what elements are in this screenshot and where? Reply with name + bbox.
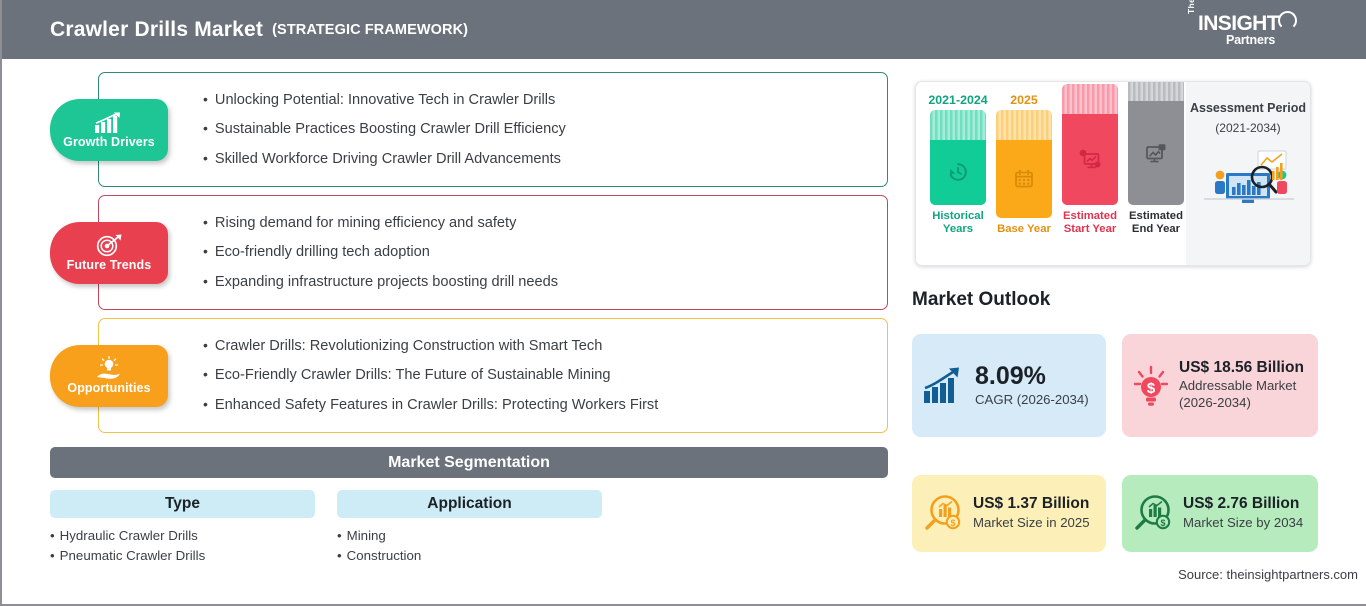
- bar-caption: Estimated Start Year: [1062, 210, 1118, 237]
- logo-arc-icon: [1278, 11, 1297, 30]
- outlook-card-value: US$ 1.37 Billion: [973, 495, 1090, 513]
- list-item: •Eco-friendly drilling tech adoption: [203, 244, 558, 260]
- list-item: •Skilled Workforce Driving Crawler Drill…: [203, 151, 566, 167]
- bullet-dot-icon: •: [203, 273, 208, 289]
- hand-lightbulb-icon: [94, 357, 124, 380]
- outlook-card-addressable-market: $ US$ 18.56 Billion Addressable Market (…: [1122, 334, 1318, 437]
- pillar-future-trends: •Rising demand for mining efficiency and…: [98, 195, 888, 310]
- badge-growth-drivers[interactable]: Growth Drivers: [50, 99, 168, 161]
- outlook-card-label: Addressable Market (2026-2034): [1179, 378, 1308, 412]
- assessment-bars-area: 2021-2024: [916, 82, 1188, 265]
- source-attribution: Source: theinsightpartners.com: [1178, 567, 1358, 582]
- svg-text:$: $: [1147, 380, 1156, 397]
- outlook-card-market-size-2034: $ US$ 2.76 Billion Market Size by 2034: [1122, 475, 1318, 552]
- logo-the-text: The: [1186, 0, 1196, 14]
- svg-text:$: $: [950, 518, 955, 528]
- segmentation-column-type: Type •Hydraulic Crawler Drills •Pneumati…: [50, 490, 315, 566]
- segmentation-column-application: Application •Mining •Construction: [337, 490, 602, 566]
- assessment-bar-group: 2021-2024: [930, 81, 1184, 237]
- outlook-card-value: US$ 2.76 Billion: [1183, 495, 1303, 513]
- left-column: •Unlocking Potential: Innovative Tech in…: [2, 59, 902, 606]
- badge-label: Opportunities: [67, 381, 150, 395]
- bar-caption: Estimated End Year: [1128, 210, 1184, 237]
- bullet-dot-icon: •: [337, 528, 342, 543]
- magnifier-chart-icon: $: [922, 493, 964, 535]
- bullet-dot-icon: •: [203, 214, 208, 230]
- list-item: •Eco-Friendly Crawler Drills: The Future…: [203, 367, 658, 383]
- bullet-dot-icon: •: [203, 243, 208, 259]
- bullet-text: Expanding infrastructure projects boosti…: [215, 274, 558, 290]
- page-title: Crawler Drills Market: [50, 18, 263, 42]
- pillar-growth-drivers: •Unlocking Potential: Innovative Tech in…: [98, 72, 888, 187]
- list-item: •Mining: [337, 526, 602, 546]
- bullet-dot-icon: •: [50, 548, 55, 563]
- assessment-bar-base: 2025: [996, 93, 1052, 237]
- page-subtitle: (STRATEGIC FRAMEWORK): [272, 22, 468, 38]
- bar-chart-arrow-icon: [94, 111, 124, 134]
- bar-year-label: 2025: [1010, 93, 1038, 107]
- segmentation-item-text: Construction: [347, 548, 422, 563]
- pillar-bullet-list: •Rising demand for mining efficiency and…: [203, 195, 558, 310]
- insight-partners-logo: The INSIGHT Partners: [1186, 12, 1306, 50]
- svg-text:$: $: [1160, 518, 1165, 528]
- bullet-text: Eco-Friendly Crawler Drills: The Future …: [215, 367, 611, 383]
- assessment-period-card: 2021-2024: [915, 81, 1311, 266]
- bullet-dot-icon: •: [203, 396, 208, 412]
- bullet-text: Enhanced Safety Features in Crawler Dril…: [215, 397, 658, 413]
- badge-future-trends[interactable]: Future Trends: [50, 222, 168, 284]
- list-item: •Sustainable Practices Boosting Crawler …: [203, 121, 566, 137]
- bar-stripe: [930, 110, 986, 140]
- outlook-card-label: Market Size in 2025: [973, 515, 1090, 532]
- bar-caption: Base Year: [997, 223, 1051, 237]
- list-item: •Expanding infrastructure projects boost…: [203, 274, 558, 290]
- outlook-card-text: US$ 18.56 Billion Addressable Market (20…: [1179, 359, 1308, 412]
- outlook-card-market-size-2025: $ US$ 1.37 Billion Market Size in 2025: [912, 475, 1106, 552]
- bar-year-label: 2021-2024: [928, 93, 987, 107]
- assessment-bar-historical: 2021-2024: [930, 93, 986, 237]
- outlook-card-label: Market Size by 2034: [1183, 515, 1303, 532]
- badge-label: Future Trends: [67, 258, 152, 272]
- list-item: •Enhanced Safety Features in Crawler Dri…: [203, 397, 658, 413]
- outlook-card-value: US$ 18.56 Billion: [1179, 359, 1308, 377]
- market-segmentation-header: Market Segmentation: [50, 447, 888, 478]
- bullet-dot-icon: •: [203, 337, 208, 353]
- list-item: •Rising demand for mining efficiency and…: [203, 215, 558, 231]
- bullet-text: Eco-friendly drilling tech adoption: [215, 244, 430, 260]
- bar-solid: [1128, 101, 1184, 205]
- badge-label: Growth Drivers: [63, 135, 155, 149]
- target-arrow-icon: [96, 234, 123, 257]
- pillar-bullet-list: •Unlocking Potential: Innovative Tech in…: [203, 72, 566, 187]
- bullet-dot-icon: •: [203, 366, 208, 382]
- bar-solid: [996, 140, 1052, 218]
- bar-shape: [996, 110, 1052, 218]
- list-item: •Crawler Drills: Revolutionizing Constru…: [203, 338, 658, 354]
- segmentation-item-list: •Hydraulic Crawler Drills •Pneumatic Cra…: [50, 526, 315, 566]
- bullet-dot-icon: •: [50, 528, 55, 543]
- bar-stripe: [1062, 84, 1118, 114]
- segmentation-column-title: Application: [337, 490, 602, 518]
- outlook-card-value: 8.09%: [975, 362, 1089, 392]
- bar-stripe: [996, 110, 1052, 140]
- page-header: Crawler Drills Market (STRATEGIC FRAMEWO…: [2, 0, 1366, 59]
- magnifier-chart-icon: $: [1132, 493, 1174, 535]
- bar-shape: [930, 110, 986, 205]
- outlook-card-cagr: 8.09% CAGR (2026-2034): [912, 334, 1106, 437]
- list-item: •Hydraulic Crawler Drills: [50, 526, 315, 546]
- assessment-period-range: (2021-2034): [1215, 121, 1280, 135]
- bar-shape: [1128, 81, 1184, 205]
- logo-partners-text: Partners: [1226, 33, 1275, 47]
- clock-rewind-icon: [947, 161, 969, 183]
- bullet-text: Rising demand for mining efficiency and …: [215, 215, 517, 231]
- market-outlook-title: Market Outlook: [912, 289, 1050, 311]
- assessment-period-panel: Assessment Period (2021-2034): [1186, 82, 1310, 265]
- list-item: •Construction: [337, 546, 602, 566]
- analytics-dashboard-illustration: [1196, 145, 1300, 207]
- outlook-card-label: CAGR (2026-2034): [975, 392, 1089, 409]
- bullet-text: Skilled Workforce Driving Crawler Drill …: [215, 151, 561, 167]
- right-column: 2021-2024: [902, 59, 1366, 606]
- segmentation-column-title: Type: [50, 490, 315, 518]
- bar-caption: Historical Years: [930, 210, 986, 237]
- bar-shape: [1062, 84, 1118, 205]
- bullet-text: Unlocking Potential: Innovative Tech in …: [215, 92, 555, 108]
- bullet-dot-icon: •: [337, 548, 342, 563]
- outlook-card-text: 8.09% CAGR (2026-2034): [975, 362, 1089, 409]
- bullet-text: Sustainable Practices Boosting Crawler D…: [215, 121, 566, 137]
- assessment-bar-end: 2034: [1128, 81, 1184, 237]
- segmentation-item-text: Hydraulic Crawler Drills: [60, 528, 198, 543]
- pillar-bullet-list: •Crawler Drills: Revolutionizing Constru…: [203, 318, 658, 433]
- bar-solid: [1062, 114, 1118, 205]
- bullet-text: Crawler Drills: Revolutionizing Construc…: [215, 338, 602, 354]
- chart-settings-icon: [1078, 148, 1102, 170]
- growth-bar-chart-icon: [922, 366, 966, 406]
- pillar-opportunities: •Crawler Drills: Revolutionizing Constru…: [98, 318, 888, 433]
- bar-stripe: [1128, 81, 1184, 101]
- assessment-bar-start: 2026: [1062, 81, 1118, 237]
- infographic-page: Crawler Drills Market (STRATEGIC FRAMEWO…: [0, 0, 1366, 606]
- image-monitor-icon: [1144, 142, 1168, 164]
- calendar-icon: [1013, 168, 1035, 190]
- segmentation-item-text: Pneumatic Crawler Drills: [60, 548, 206, 563]
- bullet-dot-icon: •: [203, 120, 208, 136]
- bullet-dot-icon: •: [203, 91, 208, 107]
- bullet-dot-icon: •: [203, 150, 208, 166]
- outlook-card-text: US$ 1.37 Billion Market Size in 2025: [973, 495, 1090, 531]
- list-item: •Unlocking Potential: Innovative Tech in…: [203, 92, 566, 108]
- lightbulb-dollar-icon: $: [1132, 364, 1170, 408]
- segmentation-item-list: •Mining •Construction: [337, 526, 602, 566]
- list-item: •Pneumatic Crawler Drills: [50, 546, 315, 566]
- bar-solid: [930, 140, 986, 205]
- segmentation-item-text: Mining: [347, 528, 386, 543]
- badge-opportunities[interactable]: Opportunities: [50, 345, 168, 407]
- outlook-card-text: US$ 2.76 Billion Market Size by 2034: [1183, 495, 1303, 531]
- assessment-period-title: Assessment Period: [1190, 100, 1306, 117]
